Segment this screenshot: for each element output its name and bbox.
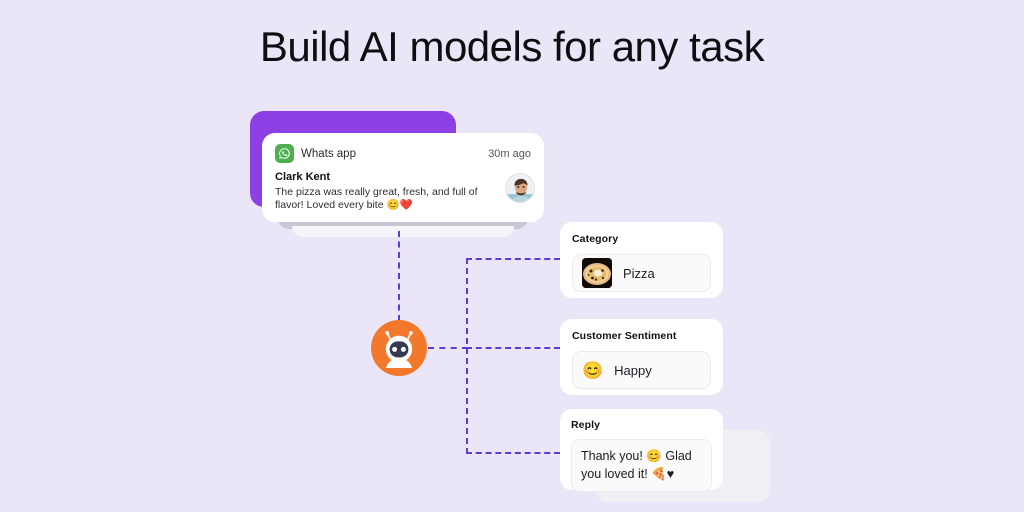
- connector-branch-sentiment: [466, 347, 560, 349]
- output-card-sentiment[interactable]: Customer Sentiment 😊 Happy: [560, 319, 723, 395]
- output-value-text: Happy: [614, 363, 652, 378]
- output-value-pill: 😊 Happy: [572, 351, 711, 389]
- decorative-white-stack-card: [292, 226, 514, 237]
- message-card-header: Whats app 30m ago: [275, 144, 531, 163]
- output-value-text: Thank you! 😊 Glad you loved it! 🍕♥: [581, 447, 702, 483]
- hero-illustration: Build AI models for any task Whats app 3…: [0, 0, 1024, 512]
- connector-model-to-trunk: [428, 347, 468, 349]
- output-card-category[interactable]: Category Pizza: [560, 222, 723, 298]
- page-title: Build AI models for any task: [0, 18, 1024, 76]
- message-text: The pizza was really great, fresh, and f…: [275, 186, 495, 212]
- output-card-title: Reply: [571, 419, 712, 431]
- connector-branch-reply: [466, 452, 560, 454]
- robot-avatar-icon[interactable]: [371, 320, 427, 376]
- message-timestamp: 30m ago: [488, 148, 531, 160]
- whatsapp-icon: [275, 144, 294, 163]
- output-value-pill: Pizza: [572, 254, 711, 292]
- message-app-source: Whats app: [275, 144, 356, 163]
- connector-trunk: [466, 258, 468, 454]
- output-value-text: Pizza: [623, 266, 655, 281]
- connector-message-to-model: [398, 231, 400, 321]
- message-sender-name: Clark Kent: [275, 171, 495, 183]
- pizza-photo-thumbnail: [582, 258, 612, 288]
- message-card-body: Clark Kent The pizza was really great, f…: [275, 171, 531, 212]
- output-card-reply[interactable]: Reply Thank you! 😊 Glad you loved it! 🍕♥: [560, 409, 723, 490]
- output-card-title: Customer Sentiment: [572, 330, 711, 342]
- avatar: [505, 173, 535, 203]
- message-card[interactable]: Whats app 30m ago Clark Kent The pizza w…: [262, 133, 544, 222]
- connector-branch-category: [466, 258, 560, 260]
- reply-value-box: Thank you! 😊 Glad you loved it! 🍕♥: [571, 439, 712, 492]
- output-card-title: Category: [572, 233, 711, 245]
- smiling-face-emoji: 😊: [582, 362, 603, 379]
- message-app-name: Whats app: [301, 148, 356, 160]
